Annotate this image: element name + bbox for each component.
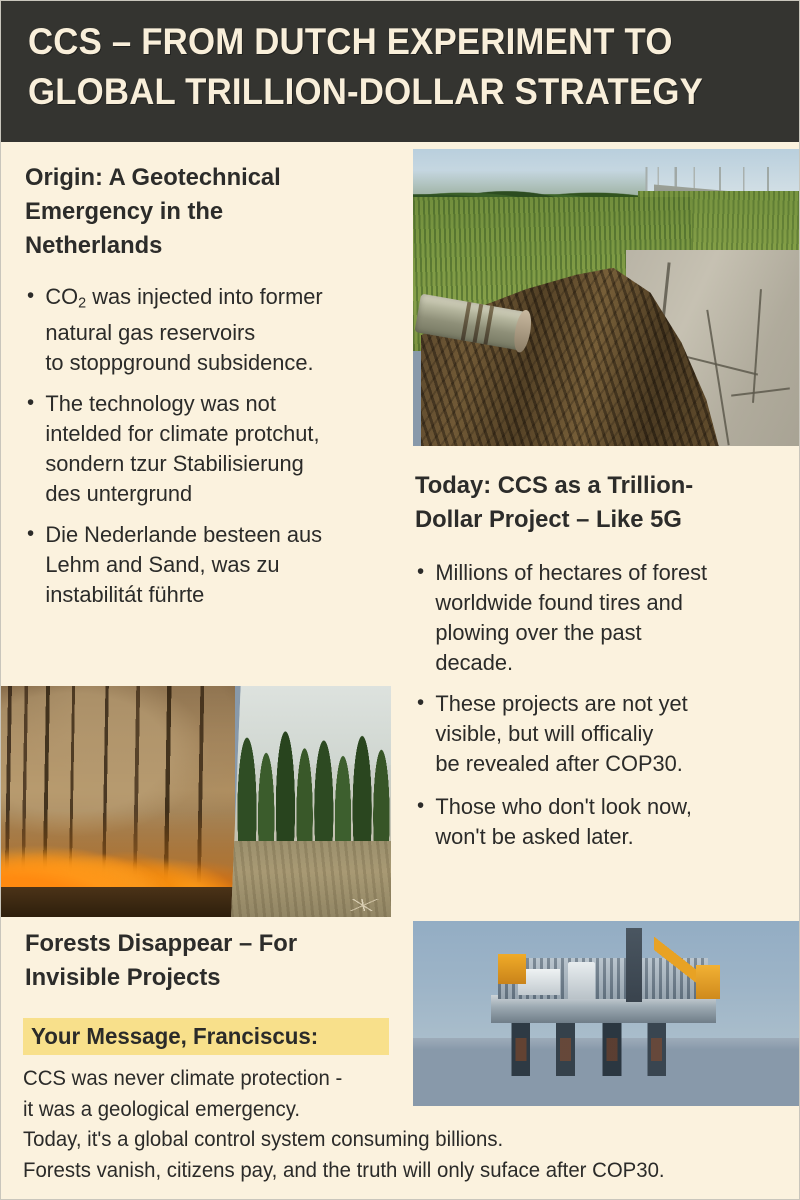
burnt-ground [1, 887, 235, 917]
bullet-line: worldwide found tires and [435, 588, 789, 618]
bullet-line: to stoppground subsidence. [45, 348, 403, 378]
list-item: CO2 was injected into former natural gas… [25, 282, 403, 378]
bullet-line: natural gas reservoirs [45, 318, 403, 348]
bullet-line: Lehm and Sand, was zu [45, 550, 403, 580]
crane-right [696, 965, 719, 998]
bullet-line: des untergrund [45, 479, 403, 509]
bullet-line: Millions of hectares of forest [435, 558, 789, 588]
clearcut-ground [231, 841, 391, 917]
section-heading-forests: Forests Disappear – For Invisible Projec… [25, 927, 394, 995]
bullet-line: These projects are not yet [435, 689, 789, 719]
bullet-line: The technology was not [45, 389, 403, 419]
pipe-band [461, 302, 472, 341]
bullet-line: won't be asked later. [435, 822, 789, 852]
list-item: These projects are not yet visible, but … [415, 689, 789, 779]
platform-legs [506, 1021, 692, 1077]
infographic-poster: CCS – FROM DUTCH EXPERIMENT TO GLOBAL TR… [0, 0, 800, 1200]
bullet-line: be revealed after COP30. [435, 749, 789, 779]
bullet-line: Die Nederlande besteen aus [45, 520, 403, 550]
crane-left [498, 954, 525, 984]
pipe-band [483, 306, 494, 345]
page-title: CCS – FROM DUTCH EXPERIMENT TO GLOBAL TR… [28, 17, 733, 117]
pipe-band [472, 304, 483, 343]
today-heading-line-1: Today: CCS as a Trillion- [415, 469, 784, 503]
branch-debris [346, 899, 381, 911]
header-banner: CCS – FROM DUTCH EXPERIMENT TO GLOBAL TR… [1, 1, 800, 142]
bullet-line: visible, but will officaliy [435, 719, 789, 749]
page-title-line-2: GLOBAL TRILLION-DOLLAR STRATEGY [28, 67, 733, 117]
list-item: Those who don't look now, won't be asked… [415, 792, 789, 852]
today-bullet-list: Millions of hectares of forest worldwide… [415, 558, 789, 852]
forests-heading-line-1: Forests Disappear – For [25, 927, 394, 961]
bullet-line: sondern tzur Stabilisierung [45, 449, 403, 479]
section-heading-today: Today: CCS as a Trillion- Dollar Project… [415, 469, 784, 537]
platform-deck [491, 995, 716, 1023]
derrick-tower [626, 928, 642, 1002]
bullet-line: Those who don't look now, [435, 792, 789, 822]
section-heading-origin: Origin: A Geotechnical Emergency in the … [25, 161, 394, 263]
list-item: Die Nederlande besteen aus Lehm and Sand… [25, 520, 403, 610]
forest-fire-photo [1, 686, 391, 917]
bullet-line: plowing over the past [435, 618, 789, 648]
burning-forest-half [1, 686, 235, 917]
crack-line [752, 289, 762, 403]
forests-heading-line-2: Invisible Projects [25, 961, 394, 995]
bullet-line: decade. [435, 648, 789, 678]
platform-tank [568, 962, 595, 999]
oil-rig-photo [413, 921, 800, 1106]
today-heading-line-2: Dollar Project – Like 5G [415, 503, 784, 537]
message-line: Today, it's a global control system cons… [23, 1125, 760, 1156]
bullet-line: CO2 was injected into former [45, 282, 403, 318]
intact-forest-half [231, 686, 391, 917]
origin-heading-line-2: Emergency in the [25, 195, 394, 229]
leg-rust [506, 1038, 692, 1061]
conifer-trees [231, 695, 391, 861]
subsidence-photo [413, 149, 800, 446]
bullet-line: intelded for climate protchut, [45, 419, 403, 449]
origin-heading-line-3: Netherlands [25, 229, 394, 263]
origin-heading-line-1: Origin: A Geotechnical [25, 161, 394, 195]
bullet-line: instabilitát führte [45, 580, 403, 610]
page-title-line-1: CCS – FROM DUTCH EXPERIMENT TO [28, 17, 733, 67]
message-highlight-label: Your Message, Franciscus: [31, 1022, 318, 1051]
list-item: The technology was not intelded for clim… [25, 389, 403, 509]
origin-bullet-list: CO2 was injected into former natural gas… [25, 282, 403, 610]
list-item: Millions of hectares of forest worldwide… [415, 558, 789, 678]
message-line: Forests vanish, citizens pay, and the tr… [23, 1156, 760, 1187]
crack-line [731, 387, 790, 396]
